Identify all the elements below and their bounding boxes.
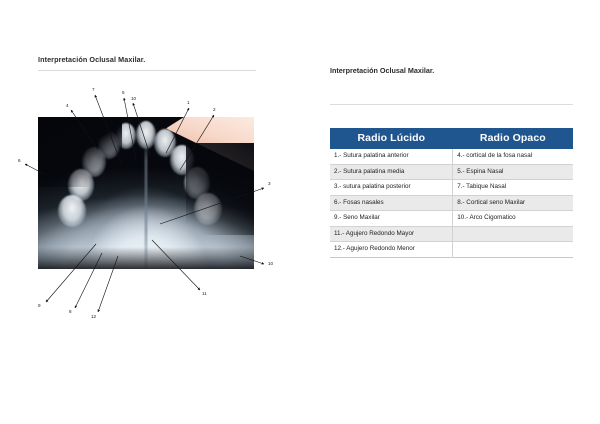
annotation-number: 2 bbox=[213, 108, 216, 113]
annotation-number: 12 bbox=[91, 315, 96, 320]
table-row: 12.- Agujero Redondo Menor bbox=[330, 242, 573, 258]
bottom-shadow bbox=[38, 247, 254, 269]
dark-corner-left bbox=[38, 117, 122, 187]
cell-radio-opaco: 7.- Tabique Nasal bbox=[453, 180, 573, 196]
right-slide-panel: Interpretación Oclusal Maxilar. Radio Lú… bbox=[300, 0, 600, 424]
left-slide-panel: Interpretación Oclusal Maxilar. bbox=[0, 0, 300, 424]
page-title: Interpretación Oclusal Maxilar. bbox=[38, 55, 145, 64]
annotation-number: 4 bbox=[66, 104, 69, 109]
cell-radio-opaco: 10.- Arco Cigomatico bbox=[453, 211, 573, 227]
title-divider bbox=[38, 70, 256, 71]
table-row: 2.- Sutura palatina media 5.- Espina Nas… bbox=[330, 164, 573, 180]
table-row: 9.- Seno Maxilar 10.- Arco Cigomatico bbox=[330, 211, 573, 227]
annotation-number: 1 bbox=[187, 101, 190, 106]
annotation-number: 8 bbox=[69, 310, 72, 315]
column-header-radio-lucido: Radio Lúcido bbox=[330, 128, 453, 149]
table-row: 3.- sutura palatina posterior 7.- Tabiqu… bbox=[330, 180, 573, 196]
cell-radio-opaco: 8.- Cortical seno Maxilar bbox=[453, 195, 573, 211]
cell-radio-opaco bbox=[453, 242, 573, 258]
right-title-divider bbox=[330, 104, 573, 105]
dark-corner-right bbox=[186, 143, 254, 235]
cell-radio-lucido: 9.- Seno Maxilar bbox=[330, 211, 453, 227]
table-header-row: Radio Lúcido Radio Opaco bbox=[330, 128, 573, 149]
annotation-number: 6 bbox=[18, 159, 21, 164]
right-page-title: Interpretación Oclusal Maxilar. bbox=[330, 66, 434, 75]
cell-radio-opaco: 5.- Espina Nasal bbox=[453, 164, 573, 180]
annotation-number: 10 bbox=[131, 97, 136, 102]
cell-radio-lucido: 1.- Sutura palatina anterior bbox=[330, 149, 453, 164]
annotation-number: 7 bbox=[92, 88, 95, 93]
radio-lucido-opaco-table: Radio Lúcido Radio Opaco 1.- Sutura pala… bbox=[330, 128, 573, 258]
annotation-number: 9 bbox=[38, 304, 41, 309]
annotation-number: 10 bbox=[268, 262, 273, 267]
cell-radio-lucido: 3.- sutura palatina posterior bbox=[330, 180, 453, 196]
column-header-radio-opaco: Radio Opaco bbox=[453, 128, 573, 149]
cell-radio-lucido: 11.- Agujero Redondo Mayor bbox=[330, 226, 453, 242]
maxillary-occlusal-radiograph bbox=[38, 117, 254, 269]
annotation-number: 11 bbox=[202, 292, 207, 297]
table-row: 6.- Fosas nasales 8.- Cortical seno Maxi… bbox=[330, 195, 573, 211]
cell-radio-lucido: 2.- Sutura palatina media bbox=[330, 164, 453, 180]
table-row: 1.- Sutura palatina anterior 4.- cortica… bbox=[330, 149, 573, 164]
annotation-number: 3 bbox=[268, 182, 271, 187]
cell-radio-lucido: 12.- Agujero Redondo Menor bbox=[330, 242, 453, 258]
tooth-lobe bbox=[58, 195, 86, 227]
cell-radio-lucido: 6.- Fosas nasales bbox=[330, 195, 453, 211]
cell-radio-opaco bbox=[453, 226, 573, 242]
cell-radio-opaco: 4.- cortical de la fosa nasal bbox=[453, 149, 573, 164]
annotation-number: 5 bbox=[122, 91, 125, 96]
table-row: 11.- Agujero Redondo Mayor bbox=[330, 226, 573, 242]
